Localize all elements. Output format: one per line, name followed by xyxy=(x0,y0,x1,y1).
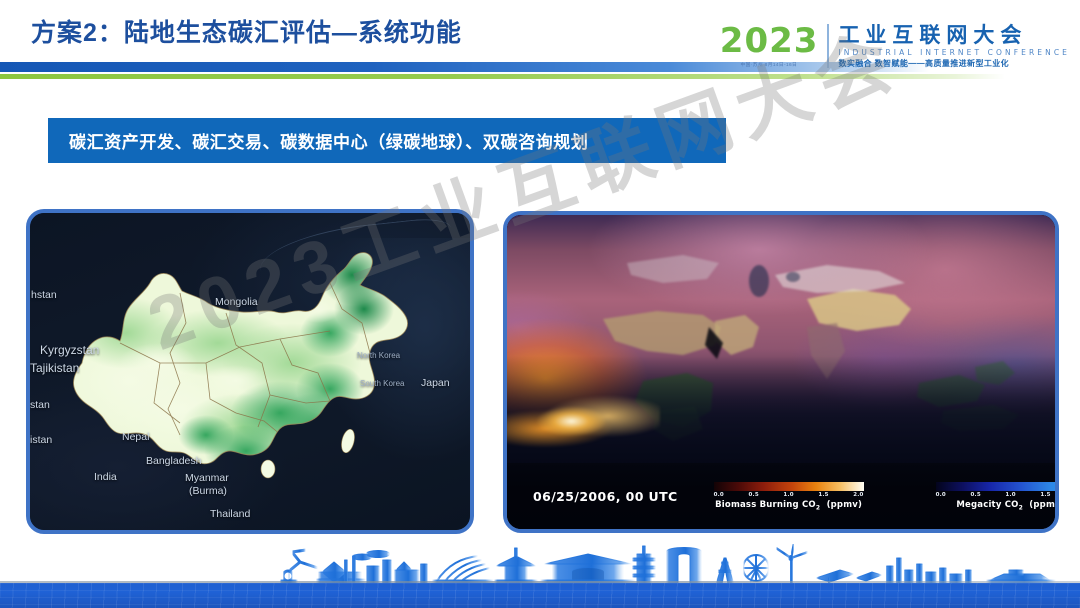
megacity-colorbar xyxy=(936,482,1055,491)
logo-tagline: 数实融合 数智赋能——高质量推进新型工业化 xyxy=(838,58,1070,70)
slide-root: 方案2：陆地生态碳汇评估—系统功能 2023 中国·苏州 8月14日-16日 工… xyxy=(0,0,1080,608)
footer-band xyxy=(0,550,1080,608)
biomass-fire-plume xyxy=(507,391,660,454)
logo-name-cn: 工业互联网大会 xyxy=(838,24,1070,47)
logo-year-block: 2023 中国·苏州 8月14日-16日 xyxy=(720,24,828,68)
biomass-colorbar-group: 0.0 0.5 1.0 1.5 2.0 Biomass Burning CO2 … xyxy=(714,482,864,512)
logo-text-block: 工业互联网大会 INDUSTRIAL INTERNET CONFERENCE 数… xyxy=(838,24,1070,70)
sahara-region xyxy=(603,311,721,355)
tick-label: 1.0 xyxy=(1005,492,1015,498)
map-label: Thailand xyxy=(210,508,250,520)
tick-label: 1.0 xyxy=(783,492,793,498)
caption-banner-text: 碳汇资产开发、碳汇交易、碳数据中心（绿碳地球）、双碳咨询规划 xyxy=(48,128,589,153)
map-label: Bangladesh xyxy=(146,455,201,467)
biomass-colorbar-ticks: 0.0 0.5 1.0 1.5 2.0 xyxy=(714,492,864,498)
logo-name-en: INDUSTRIAL INTERNET CONFERENCE xyxy=(838,47,1070,58)
tick-label: 2.0 xyxy=(853,492,863,498)
taiwan-island xyxy=(339,428,356,454)
footer-ground-grid xyxy=(0,583,1080,608)
tick-label: 0.0 xyxy=(714,492,724,498)
map-label: Nepal xyxy=(122,431,149,443)
china-map-canvas: hstan Kyrgyzstan Tajikistan stan istan M… xyxy=(30,213,470,530)
map-label: stan xyxy=(30,399,50,411)
megacity-subscript: 2 xyxy=(1019,505,1023,512)
map-label: Tajikistan xyxy=(30,361,79,375)
logo-place-text: 中国·苏州 8月14日-16日 xyxy=(741,61,798,68)
globe-canvas: 06/25/2006, 00 UTC 0.0 0.5 1.0 1.5 2.0 B… xyxy=(507,215,1055,529)
hainan-island xyxy=(261,460,275,478)
megacity-colorbar-ticks: 0.0 0.5 1.0 1.5 2.0 xyxy=(936,492,1055,498)
map-label: Myanmar xyxy=(185,472,229,484)
bridge-icon xyxy=(436,556,490,582)
tick-label: 0.0 xyxy=(936,492,946,498)
megacity-colorbar-title: Megacity CO2 (ppmv) xyxy=(956,500,1055,512)
biomass-title-text: Biomass Burning CO xyxy=(715,500,816,510)
gate-tower-icon xyxy=(540,554,636,584)
pagoda-tower-icon xyxy=(632,546,656,584)
biomass-colorbar-title: Biomass Burning CO2 (ppmv) xyxy=(715,500,862,512)
logo-divider xyxy=(827,24,829,68)
logo-year-text: 2023 xyxy=(720,24,819,58)
map-label: South Korea xyxy=(360,379,404,388)
globe-legend: 06/25/2006, 00 UTC 0.0 0.5 1.0 1.5 2.0 B… xyxy=(507,465,1055,529)
biomass-units: (ppmv) xyxy=(827,500,863,510)
map-label: Kyrgyzstan xyxy=(40,343,99,357)
page-title: 方案2：陆地生态碳汇评估—系统功能 xyxy=(31,13,462,49)
tick-label: 0.5 xyxy=(971,492,981,498)
wind-turbine-icon xyxy=(776,544,808,584)
caption-banner: 碳汇资产开发、碳汇交易、碳数据中心（绿碳地球）、双碳咨询规划 xyxy=(48,118,726,163)
aral-sea xyxy=(786,272,800,282)
legend-date-label: 06/25/2006, 00 UTC xyxy=(533,489,678,504)
skyline-silhouettes xyxy=(0,544,1080,584)
arabian-peninsula xyxy=(715,315,759,355)
map-label: (Burma) xyxy=(189,485,227,497)
conference-logo: 2023 中国·苏州 8月14日-16日 工业互联网大会 INDUSTRIAL … xyxy=(720,24,1070,76)
tick-label: 0.5 xyxy=(749,492,759,498)
tibetan-plateau xyxy=(807,289,911,331)
pagoda-icon xyxy=(494,548,538,584)
ferris-wheel-icon xyxy=(743,555,769,582)
europe-region xyxy=(627,255,719,283)
globe-panel: 06/25/2006, 00 UTC 0.0 0.5 1.0 1.5 2.0 B… xyxy=(503,211,1059,533)
map-label: India xyxy=(94,471,117,483)
map-label: hstan xyxy=(31,289,57,301)
map-label: Mongolia xyxy=(215,296,258,308)
biomass-colorbar xyxy=(714,482,864,491)
tick-label: 1.5 xyxy=(818,492,828,498)
map-label: Japan xyxy=(421,377,450,389)
tick-label: 1.5 xyxy=(1040,492,1050,498)
megacity-units: (ppmv) xyxy=(1029,500,1055,510)
caspian-sea xyxy=(749,265,769,297)
map-label: istan xyxy=(30,434,52,446)
china-map-panel: hstan Kyrgyzstan Tajikistan stan istan M… xyxy=(26,209,474,534)
megacity-title-text: Megacity CO xyxy=(956,500,1018,510)
map-label: North Korea xyxy=(357,351,400,360)
megacity-colorbar-group: 0.0 0.5 1.0 1.5 2.0 Megacity CO2 (ppmv) xyxy=(936,482,1055,512)
suzhou-gate-icon xyxy=(666,548,702,585)
biomass-subscript: 2 xyxy=(816,505,820,512)
